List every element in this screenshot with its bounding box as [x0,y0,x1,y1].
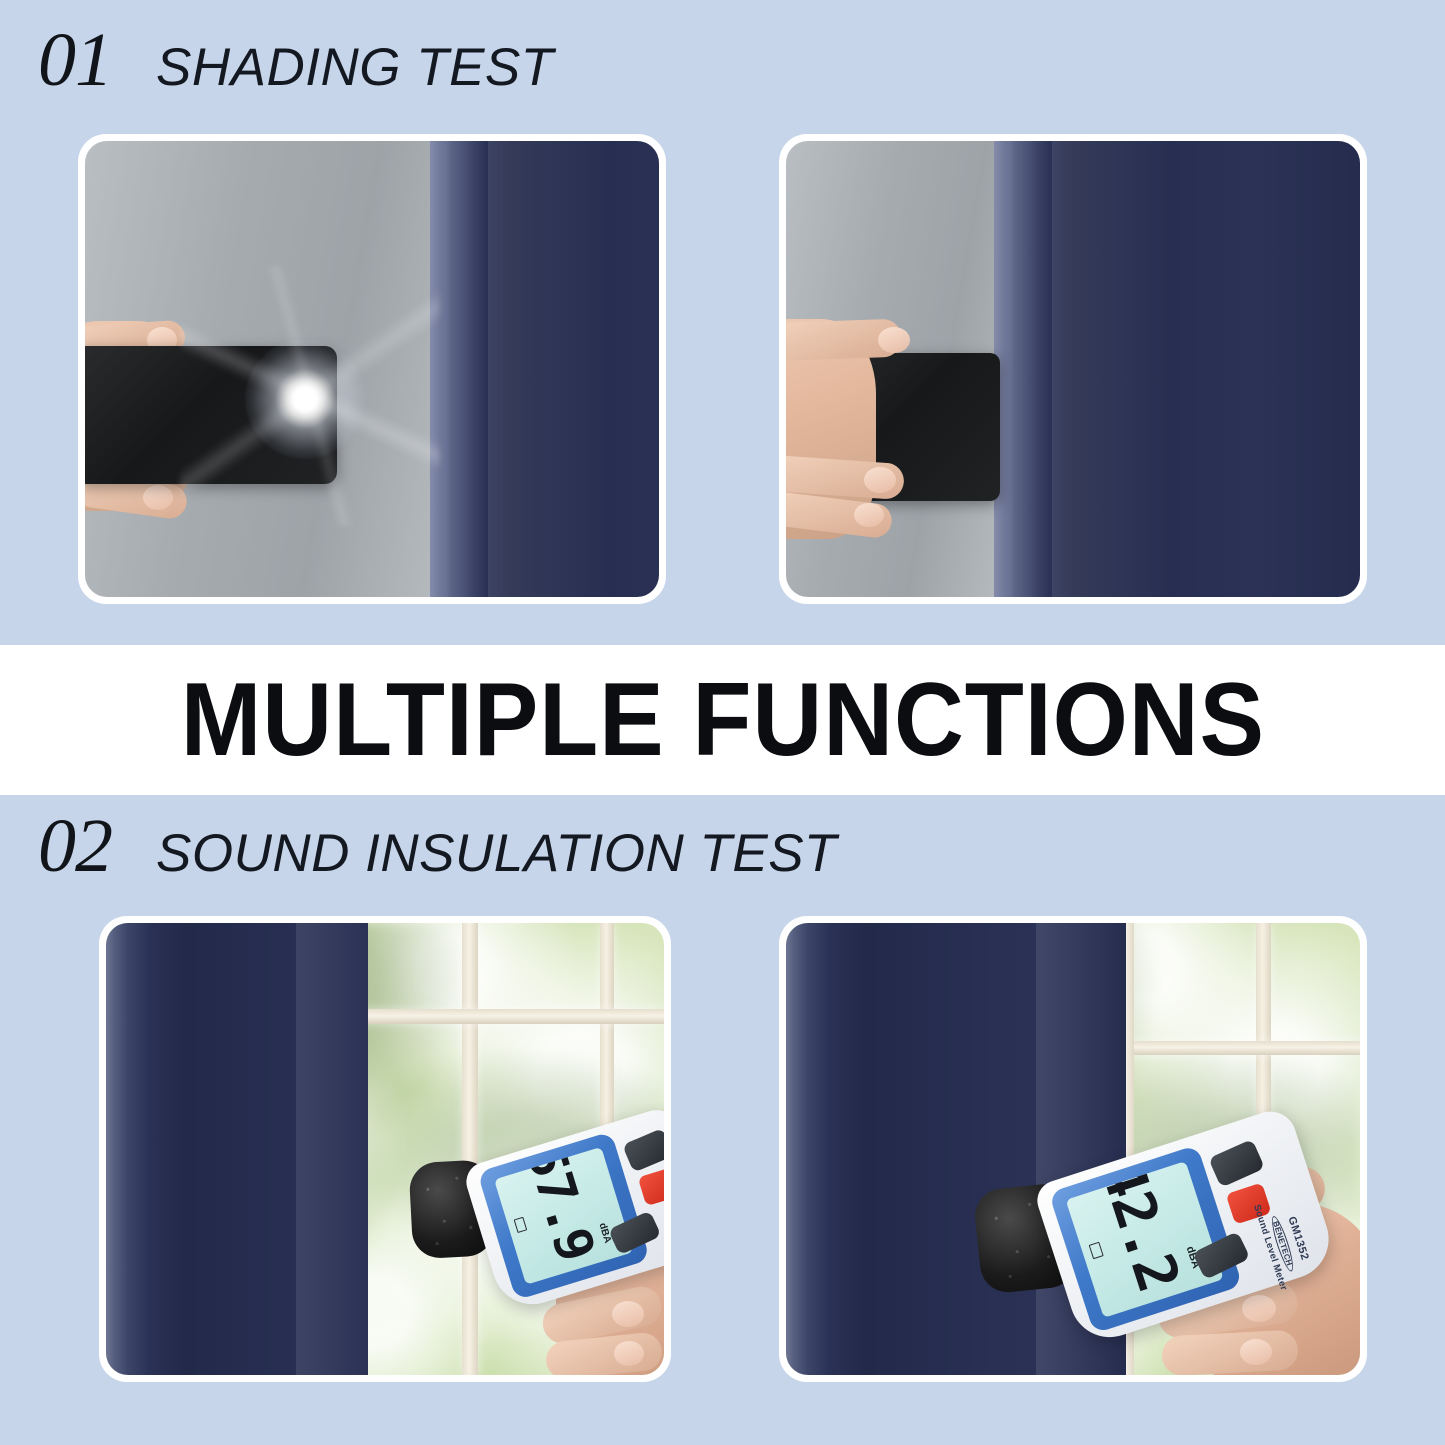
finger-ring [1161,1329,1299,1375]
photo-card-shading-light-on [78,134,666,604]
fingernail-ring [143,485,173,510]
curtain-sheen [296,923,366,1375]
curtain-seam [444,141,452,597]
section-title-01: SHADING TEST [156,41,554,94]
section-number-01: 01 [38,22,112,98]
photo-inner: 57.9 dBA BENETECH [106,923,664,1375]
curtain-seam [1008,141,1016,597]
multiple-functions-banner: MULTIPLE FUNCTIONS [0,645,1445,795]
fingernail-ring [1240,1339,1272,1365]
section-title-02: SOUND INSULATION TEST [156,827,837,880]
navy-curtain [994,141,1360,597]
fingernail-index [878,327,910,353]
photo-card-sound-open-window: 57.9 dBA BENETECH [99,916,671,1382]
navy-curtain [430,141,659,597]
photo-card-sound-closed-curtain: 42.2 dBA GM1352 BENETECH Sound Level Met… [779,916,1367,1382]
section-number-02: 02 [38,808,112,884]
photo-inner [85,141,659,597]
fingernail-middle [612,1301,644,1327]
window-mullion-horizontal [1126,1041,1360,1055]
flashlight-glow [245,339,365,459]
photo-card-shading-light-blocked [779,134,1367,604]
battery-icon [1089,1242,1104,1260]
window-mullion-horizontal [356,1009,664,1024]
curtain-sheen [488,141,608,597]
fingernail-ring [614,1341,644,1366]
battery-icon [514,1217,528,1233]
navy-curtain [106,923,368,1375]
photo-inner: 42.2 dBA GM1352 BENETECH Sound Level Met… [786,923,1360,1375]
photo-inner [786,141,1360,597]
curtain-sheen [1052,141,1172,597]
banner-title: MULTIPLE FUNCTIONS [180,668,1264,772]
section-heading-02: 02 SOUND INSULATION TEST [38,808,837,884]
fingernail-ring [854,503,884,527]
fingernail-middle [864,467,896,493]
section-heading-01: 01 SHADING TEST [38,22,554,98]
